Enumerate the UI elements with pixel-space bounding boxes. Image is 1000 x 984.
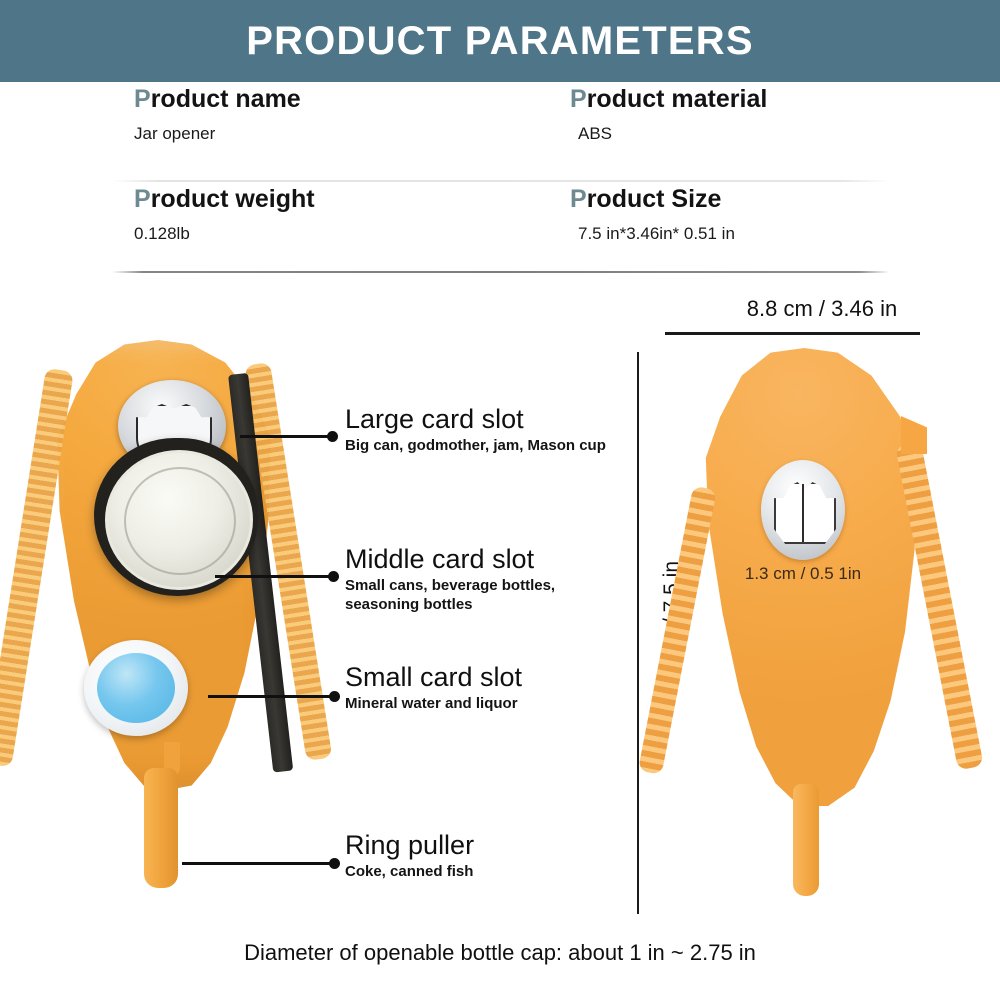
spec-value: 0.128lb bbox=[134, 224, 514, 244]
spec-cell-product-weight: Product weight 0.128lb bbox=[134, 186, 514, 278]
spec-label-initial: P bbox=[570, 185, 587, 213]
leader-dot-large-slot bbox=[327, 431, 338, 442]
annotation-large-card-slot: Large card slot Big can, godmother, jam,… bbox=[345, 404, 635, 456]
small-blue-cap bbox=[84, 640, 188, 736]
blue-cap-face bbox=[97, 653, 175, 723]
spec-label-initial: P bbox=[134, 85, 151, 113]
large-jar-lid bbox=[94, 438, 258, 596]
spec-label-rest: roduct Size bbox=[587, 185, 722, 213]
annotation-middle-card-slot: Middle card slot Small cans, beverage bo… bbox=[345, 544, 635, 614]
dimension-width-label: 8.8 cm / 3.46 in bbox=[687, 296, 957, 322]
spec-label-rest: roduct material bbox=[587, 85, 768, 113]
dimension-height-line bbox=[637, 352, 639, 914]
leader-line-ring-puller bbox=[182, 862, 334, 865]
ring-puller-stem bbox=[793, 784, 819, 896]
annotation-subtitle: Mineral water and liquor bbox=[345, 695, 635, 714]
bottle-cap-opener-metal bbox=[761, 460, 845, 560]
serrated-edge-left bbox=[638, 486, 717, 775]
annotation-small-card-slot: Small card slot Mineral water and liquor bbox=[345, 662, 635, 714]
annotation-title: Ring puller bbox=[345, 830, 635, 860]
bottle-cap-opener-divider bbox=[802, 484, 804, 542]
annotation-title: Middle card slot bbox=[345, 544, 635, 574]
spec-label-initial: P bbox=[134, 185, 151, 213]
jar-opener-photo-front bbox=[22, 340, 322, 920]
spec-label: Product weight bbox=[134, 186, 514, 212]
header-banner: PRODUCT PARAMETERS bbox=[0, 0, 1000, 82]
spec-label-initial: P bbox=[570, 85, 587, 113]
table-row: Product weight 0.128lb Product Size 7.5 … bbox=[110, 186, 890, 278]
table-row: Product name Jar opener Product material… bbox=[110, 86, 890, 178]
table-bottom-rule bbox=[112, 271, 890, 273]
page-title: PRODUCT PARAMETERS bbox=[246, 19, 754, 64]
spec-label: Product material bbox=[570, 86, 950, 112]
spec-value: Jar opener bbox=[134, 124, 514, 144]
table-divider bbox=[112, 180, 890, 182]
spec-value: ABS bbox=[578, 124, 950, 144]
serrated-edge-right bbox=[895, 442, 983, 771]
leader-dot-small-slot bbox=[329, 691, 340, 702]
dimension-width-line bbox=[665, 332, 920, 335]
spec-label-rest: roduct name bbox=[151, 85, 301, 113]
serrated-edge-left bbox=[0, 368, 74, 767]
spec-cell-product-material: Product material ABS bbox=[570, 86, 950, 178]
annotation-title: Large card slot bbox=[345, 404, 635, 434]
jar-opener-render-back: 1.3 cm / 0.5 1in bbox=[677, 348, 957, 908]
jar-lid-ring bbox=[124, 467, 236, 575]
leader-dot-middle-slot bbox=[328, 571, 339, 582]
ring-puller-stem bbox=[144, 768, 178, 888]
annotation-subtitle: Coke, canned fish bbox=[345, 863, 635, 882]
spec-label-rest: roduct weight bbox=[151, 185, 315, 213]
leader-line-small-slot bbox=[208, 695, 334, 698]
footer-caption: Diameter of openable bottle cap: about 1… bbox=[0, 940, 1000, 966]
product-parameters-table: Product name Jar opener Product material… bbox=[0, 82, 1000, 282]
spec-label: Product name bbox=[134, 86, 514, 112]
annotation-subtitle: Big can, godmother, jam, Mason cup bbox=[345, 437, 635, 456]
jar-lid-face bbox=[105, 450, 253, 590]
bottle-cap-opener-slot bbox=[774, 482, 836, 544]
dimension-panel: 8.8 cm / 3.46 in 19 cm / 7.5 in 1.3 cm /… bbox=[625, 282, 1000, 932]
leader-dot-ring-puller bbox=[329, 858, 340, 869]
spec-cell-product-size: Product Size 7.5 in*3.46in* 0.51 in bbox=[570, 186, 950, 278]
annotation-ring-puller: Ring puller Coke, canned fish bbox=[345, 830, 635, 882]
dimension-hole-label: 1.3 cm / 0.5 1in bbox=[703, 564, 903, 584]
leader-line-large-slot bbox=[240, 435, 332, 438]
spec-value: 7.5 in*3.46in* 0.51 in bbox=[578, 224, 950, 244]
annotation-title: Small card slot bbox=[345, 662, 635, 692]
corner-notch bbox=[901, 416, 927, 454]
spec-cell-product-name: Product name Jar opener bbox=[134, 86, 514, 178]
spec-label: Product Size bbox=[570, 186, 950, 212]
annotation-subtitle: Small cans, beverage bottles, seasoning … bbox=[345, 577, 635, 614]
leader-line-middle-slot bbox=[215, 575, 333, 578]
